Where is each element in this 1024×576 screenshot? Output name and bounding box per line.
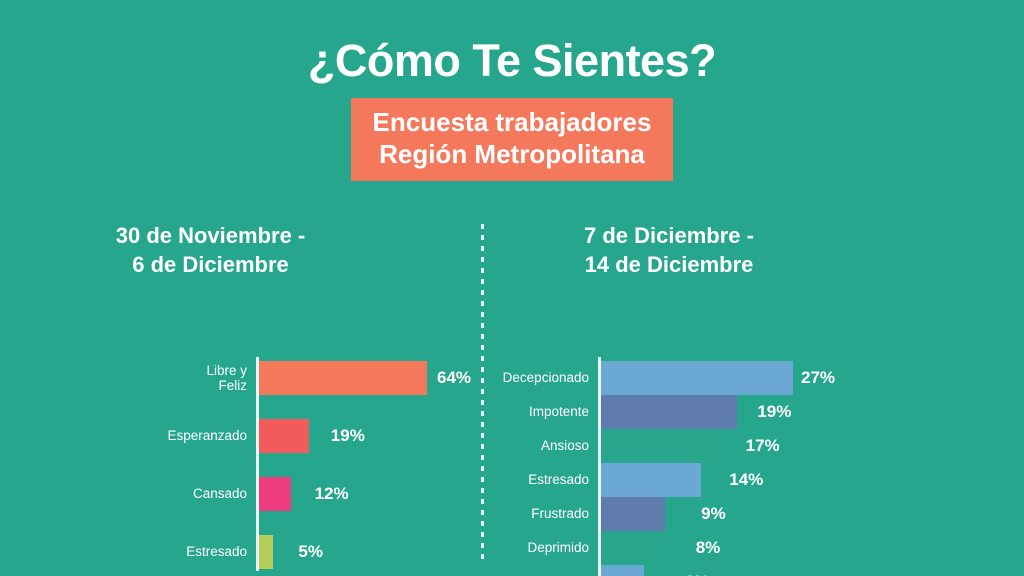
- chart-bar-row: Esperanzado19%: [0, 419, 365, 453]
- chart-panel-period-2: 7 de Diciembre - 14 de Diciembre Decepci…: [484, 222, 1024, 279]
- bar-segment: [601, 565, 644, 576]
- bar-value-label: 14%: [729, 470, 763, 490]
- bar-category-label: Cansado: [0, 486, 256, 502]
- chart-bar-row: Decepcionado27%: [484, 361, 835, 395]
- bar-category-label: Esperanzado: [0, 428, 256, 444]
- bar-category-label: Libre y Feliz: [0, 363, 256, 394]
- bar-segment: [259, 361, 427, 395]
- bar-category-label: Frustrado: [484, 506, 598, 522]
- bar-category-label: Impotente: [484, 404, 598, 420]
- subtitle-badge: Encuesta trabajadores Región Metropolita…: [351, 98, 674, 181]
- chart-title-period-1: 30 de Noviembre - 6 de Diciembre: [0, 222, 481, 279]
- chart-title-line-2: 14 de Diciembre: [484, 251, 854, 280]
- subtitle-line-2: Región Metropolitana: [373, 138, 652, 171]
- bar-value-label: 12%: [315, 484, 349, 504]
- bar-segment: [601, 395, 737, 429]
- chart-bar-row: Impotente19%: [484, 395, 791, 429]
- chart-title-period-2: 7 de Diciembre - 14 de Diciembre: [484, 222, 1024, 279]
- chart-bar-row: Ansioso17%: [484, 429, 780, 463]
- chart-bar-row: Estresado5%: [0, 535, 323, 569]
- bar-category-label: Deprimido: [484, 540, 598, 556]
- bar-segment: [601, 361, 793, 395]
- bar-segment: [259, 419, 309, 453]
- chart-bar-row: Frustrado9%: [484, 497, 726, 531]
- chart-bar-row: Deprimido8%: [484, 531, 720, 565]
- bar-value-label: 27%: [801, 368, 835, 388]
- chart-title-line-2: 6 de Diciembre: [0, 251, 421, 280]
- chart-bar-row: Estresado14%: [484, 463, 763, 497]
- bar-segment: [601, 531, 658, 565]
- bar-segment: [259, 477, 291, 511]
- chart-bar-row: Libre y Feliz64%: [0, 361, 471, 395]
- bar-category-label: Ansioso: [484, 438, 598, 454]
- bar-value-label: 17%: [746, 436, 780, 456]
- page-title: ¿Cómo Te Sientes?: [0, 36, 1024, 86]
- bar-value-label: 8%: [696, 538, 721, 558]
- infographic-poster: ¿Cómo Te Sientes? Encuesta trabajadores …: [0, 0, 1024, 576]
- bar-segment: [601, 497, 665, 531]
- chart-panel-period-1: 30 de Noviembre - 6 de Diciembre Libre y…: [0, 222, 481, 279]
- bar-value-label: 19%: [757, 402, 791, 422]
- bar-value-label: 19%: [331, 426, 365, 446]
- bar-segment: [259, 535, 273, 569]
- chart-title-line-1: 7 de Diciembre -: [484, 222, 854, 251]
- bar-value-label: 9%: [701, 504, 726, 524]
- bar-category-label: Estresado: [0, 544, 256, 560]
- chart-bar-row: Cansado12%: [0, 477, 349, 511]
- bar-segment: [601, 463, 701, 497]
- chart-title-line-1: 30 de Noviembre -: [0, 222, 421, 251]
- bar-segment: [601, 429, 722, 463]
- subtitle-line-1: Encuesta trabajadores: [373, 106, 652, 139]
- bar-category-label: Decepcionado: [484, 370, 598, 386]
- poster-header: ¿Cómo Te Sientes? Encuesta trabajadores …: [0, 0, 1024, 181]
- bar-value-label: 5%: [298, 542, 323, 562]
- bar-value-label: 64%: [437, 368, 471, 388]
- chart-bar-row: Enojado6%: [484, 565, 709, 576]
- bar-value-label: 6%: [685, 572, 710, 576]
- bar-category-label: Estresado: [484, 472, 598, 488]
